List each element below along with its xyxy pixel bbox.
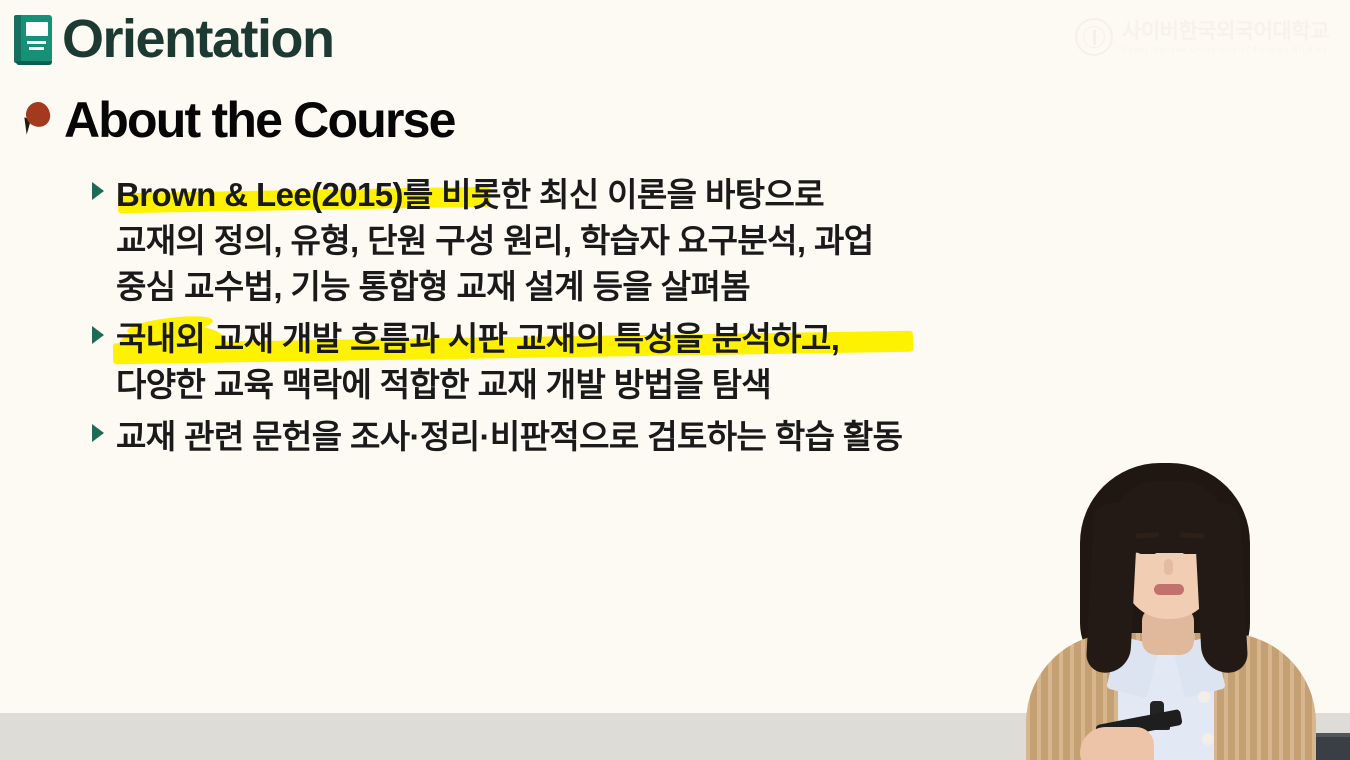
book-icon xyxy=(14,13,54,65)
triangle-bullet-icon xyxy=(92,326,104,344)
university-name-en: Cyber Hankuk University of Foreign Studi… xyxy=(1122,46,1329,54)
university-seal-icon xyxy=(1075,18,1113,56)
presenter-video xyxy=(1020,455,1350,760)
bullet-line: 다양한 교육 맥락에 적합한 교재 개발 방법을 탐색 xyxy=(116,362,1012,408)
section-heading-text: About the Course xyxy=(64,95,455,145)
slide-title-text: Orientation xyxy=(62,12,334,66)
university-name-ko: 사이버한국외국어대학교 xyxy=(1122,21,1329,42)
pushpin-icon xyxy=(18,97,58,143)
triangle-bullet-icon xyxy=(92,424,104,442)
lecture-slide: 사이버한국외국어대학교 Cyber Hankuk University of F… xyxy=(0,0,1350,760)
list-item: 교재 관련 문헌을 조사·정리·비판적으로 검토하는 학습 활동 xyxy=(92,414,1012,460)
slide-title: Orientation xyxy=(14,12,334,66)
bullet-line: Brown & Lee(2015)를 비롯한 최신 이론을 바탕으로 xyxy=(116,172,1012,218)
bullet-line: 교재의 정의, 유형, 단원 구성 원리, 학습자 요구분석, 과업 xyxy=(116,218,1012,264)
bullet-line: 국내외 교재 개발 흐름과 시판 교재의 특성을 분석하고, xyxy=(116,316,1012,362)
university-watermark: 사이버한국외국어대학교 Cyber Hankuk University of F… xyxy=(1075,18,1329,56)
university-watermark-text: 사이버한국외국어대학교 Cyber Hankuk University of F… xyxy=(1122,21,1329,54)
section-heading: About the Course xyxy=(18,95,455,145)
triangle-bullet-icon xyxy=(92,182,104,200)
bullet-list: Brown & Lee(2015)를 비롯한 최신 이론을 바탕으로 교재의 정… xyxy=(92,172,1012,466)
bullet-line: 교재 관련 문헌을 조사·정리·비판적으로 검토하는 학습 활동 xyxy=(116,414,1012,460)
list-item: 국내외 교재 개발 흐름과 시판 교재의 특성을 분석하고, 다양한 교육 맥락… xyxy=(92,316,1012,408)
bullet-line: 중심 교수법, 기능 통합형 교재 설계 등을 살펴봄 xyxy=(116,264,1012,310)
list-item: Brown & Lee(2015)를 비롯한 최신 이론을 바탕으로 교재의 정… xyxy=(92,172,1012,310)
